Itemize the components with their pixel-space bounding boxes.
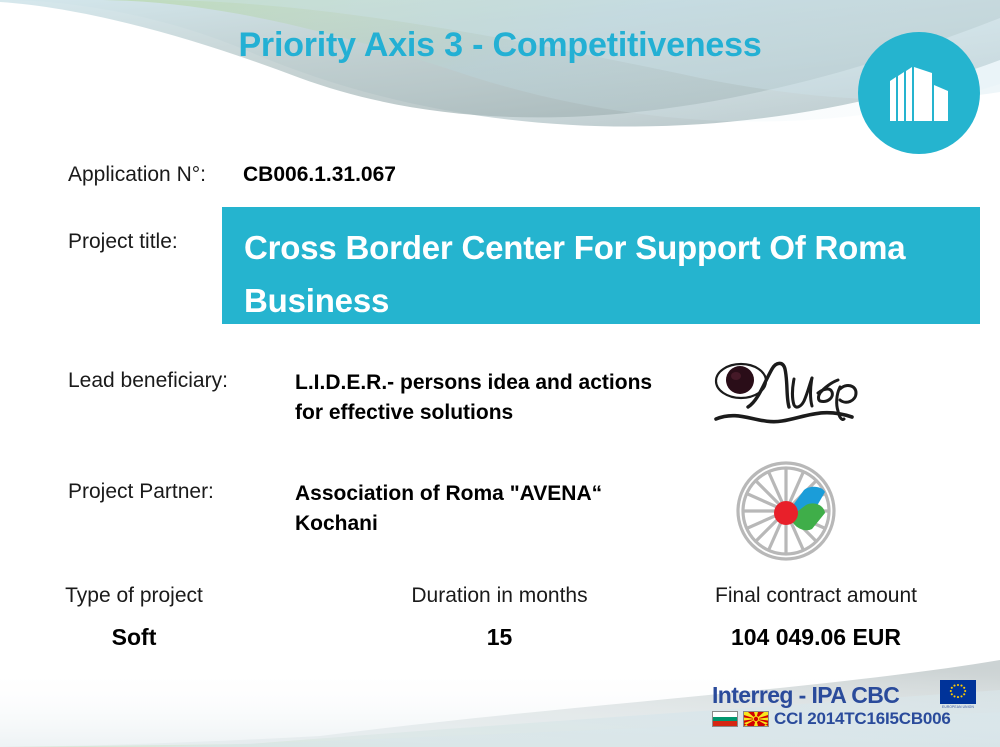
project-partner-label: Project Partner: xyxy=(68,480,214,504)
interreg-footer-logo: Interreg - IPA CBC xyxy=(712,682,994,734)
project-title-label: Project title: xyxy=(68,230,178,254)
fact-label: Final contract amount xyxy=(702,584,930,608)
application-number-value: CB006.1.31.067 xyxy=(243,163,396,187)
lead-beneficiary-value: L.I.D.E.R.- persons idea and actions for… xyxy=(295,368,685,428)
programme-name: Interreg - IPA CBC xyxy=(712,682,899,709)
fact-label: Duration in months xyxy=(398,584,601,608)
fact-duration-in-months: Duration in months 15 xyxy=(398,584,601,651)
north-macedonia-flag-icon xyxy=(743,711,769,727)
lead-beneficiary-label: Lead beneficiary: xyxy=(68,369,228,393)
fact-label: Type of project xyxy=(38,584,230,608)
fact-value: 104 049.06 EUR xyxy=(702,624,930,651)
fact-type-of-project: Type of project Soft xyxy=(38,584,230,651)
project-title-value: Cross Border Center For Support Of Roma … xyxy=(244,221,958,328)
page-title: Priority Axis 3 - Competitiveness xyxy=(0,26,1000,65)
european-union-flag-icon xyxy=(940,680,976,704)
buildings-badge xyxy=(858,32,980,154)
european-union-flag-block: EUROPEAN UNION xyxy=(938,680,978,709)
fact-value: Soft xyxy=(38,624,230,651)
cci-code: CCI 2014TC16I5CB006 xyxy=(774,709,951,729)
european-union-caption: EUROPEAN UNION xyxy=(939,705,977,709)
project-title-band: Cross Border Center For Support Of Roma … xyxy=(222,207,980,324)
presentation-slide: Priority Axis 3 - Competitiveness Applic… xyxy=(0,0,1000,747)
application-number-label: Application N°: xyxy=(68,163,206,187)
cci-line: CCI 2014TC16I5CB006 xyxy=(712,709,951,729)
lider-script-logo xyxy=(706,345,863,441)
fact-value: 15 xyxy=(398,624,601,651)
fact-final-contract-amount: Final contract amount 104 049.06 EUR xyxy=(702,584,930,651)
bulgaria-flag-icon xyxy=(712,711,738,727)
roma-wheel-logo xyxy=(730,455,842,567)
project-partner-value: Association of Roma "AVENA“ Kochani xyxy=(295,479,685,539)
